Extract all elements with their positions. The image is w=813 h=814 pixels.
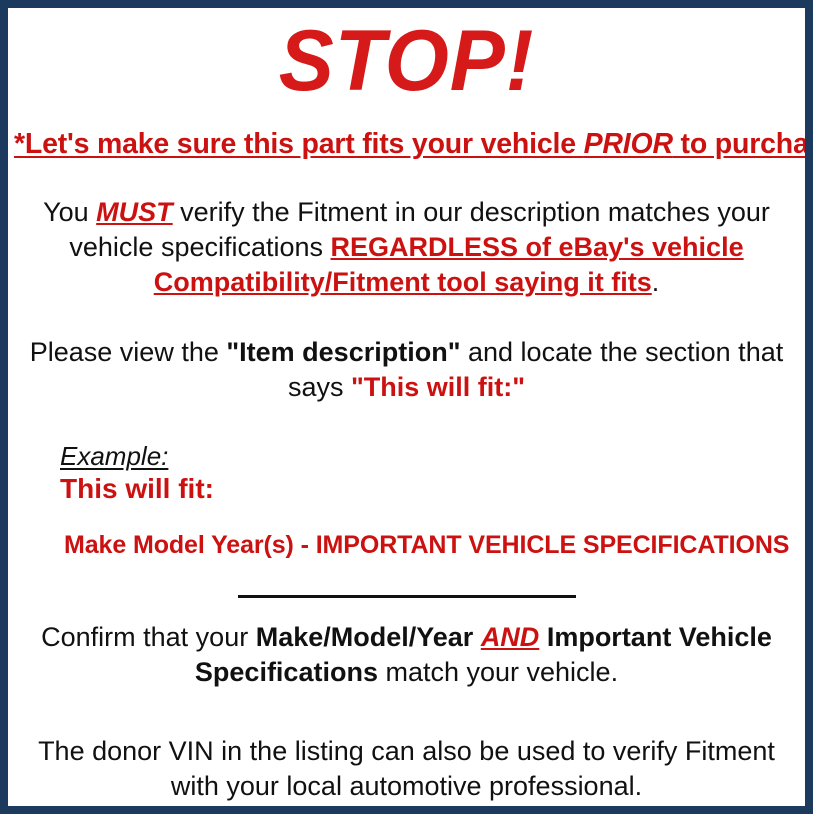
notice-inner: STOP! *Let's make sure this part fits yo…: [8, 8, 805, 806]
this-will-fit-quote: "This will fit:": [351, 372, 525, 402]
section-divider: [238, 595, 576, 598]
paragraph-must-verify: You MUST verify the Fitment in our descr…: [14, 195, 799, 300]
make-model-year-label: Make/Model/Year: [256, 622, 481, 652]
describe-seg-1: Please view the: [30, 337, 227, 367]
divider-wrap: [14, 588, 799, 606]
must-seg-1: You: [43, 197, 96, 227]
fitment-notice-card: STOP! *Let's make sure this part fits yo…: [0, 0, 813, 814]
example-fits-heading: This will fit:: [60, 473, 799, 505]
confirm-seg-5: match your vehicle.: [378, 657, 618, 687]
item-description-label: "Item description": [226, 337, 460, 367]
example-label-row: Example:: [60, 441, 799, 472]
paragraph-item-description: Please view the "Item description" and l…: [14, 335, 799, 405]
stop-headline: STOP!: [30, 8, 784, 106]
subtitle-emphasis-prior: PRIOR: [584, 128, 673, 160]
subtitle-after: to purchasing*: [673, 128, 813, 160]
paragraph-confirm: Confirm that your Make/Model/Year AND Im…: [14, 620, 799, 690]
subtitle-before: *Let's make sure this part fits your veh…: [14, 128, 584, 160]
must-emphasis: MUST: [96, 197, 173, 227]
paragraph-donor-vin: The donor VIN in the listing can also be…: [14, 734, 799, 804]
subtitle-line: *Let's make sure this part fits your veh…: [14, 128, 799, 161]
example-block: Example: This will fit: Make Model Year(…: [14, 441, 799, 560]
example-label: Example:: [60, 441, 168, 472]
must-seg-5: .: [652, 267, 660, 297]
example-spec-line: Make Model Year(s) - IMPORTANT VEHICLE S…: [60, 531, 799, 560]
and-emphasis: AND: [481, 622, 540, 652]
confirm-seg-1: Confirm that your: [41, 622, 256, 652]
